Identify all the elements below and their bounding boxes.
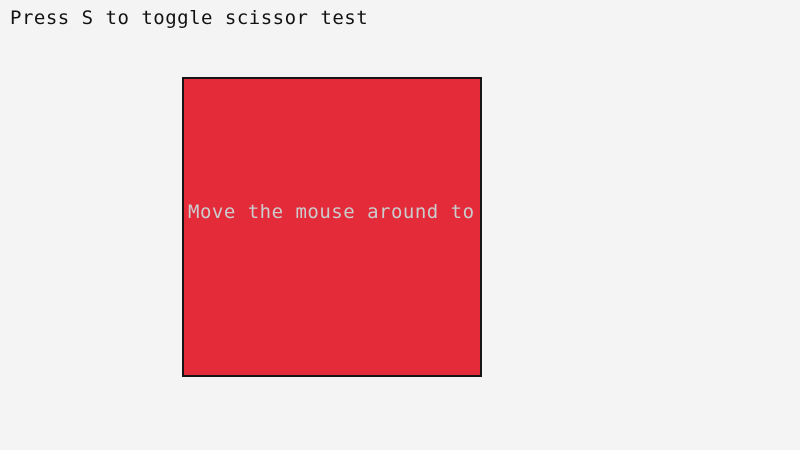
- scissor-toggle-hint: Press S to toggle scissor test: [10, 6, 368, 30]
- app-canvas: Press S to toggle scissor test Move the …: [0, 0, 800, 450]
- scissor-rectangle-label: Move the mouse around to resize the scis…: [188, 200, 482, 224]
- scissor-rectangle[interactable]: Move the mouse around to resize the scis…: [182, 77, 482, 377]
